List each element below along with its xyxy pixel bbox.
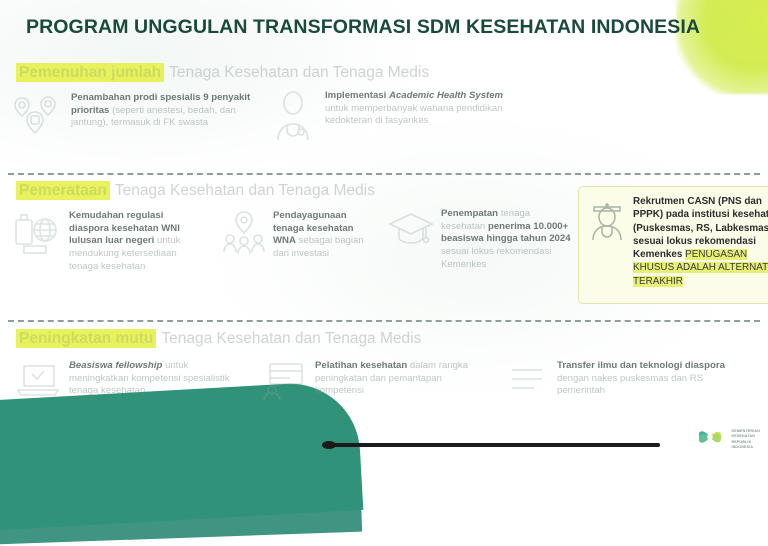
list-item-text: Kemudahan regulasi diaspora kesehatan WN… [69, 210, 200, 273]
kemenkes-pinwheel-icon [693, 420, 727, 459]
section-header-2: PemerataanTenaga Kesehatan dan Tenaga Me… [16, 182, 375, 200]
kemenkes-logo-text: KEMENTERIAN KESEHATAN REPUBLIK INDONESIA [731, 429, 760, 450]
section-3-highlight: Peningkatan mutu [16, 329, 156, 348]
list-item-text: Implementasi Academic Health System untu… [325, 90, 518, 128]
item-bold-text-a: Penempatan [441, 208, 498, 219]
list-item: Penempatan tenaga kesehatan penerima 10.… [388, 208, 573, 271]
list-item: Penambahan prodi spesialis 9 penyakit pr… [12, 92, 252, 147]
section-3-rest: Tenaga Kesehatan dan Tenaga Medis [161, 330, 421, 347]
section-header-1: Pemenuhan jumlahTenaga Kesehatan dan Ten… [16, 64, 429, 82]
section-divider-1 [8, 173, 760, 175]
section-header-3: Peningkatan mutuTenaga Kesehatan dan Ten… [16, 330, 421, 348]
graduation-cap-icon [388, 208, 434, 257]
section-1-highlight: Pemenuhan jumlah [16, 63, 164, 82]
list-item: Kemudahan regulasi diaspora kesehatan WN… [12, 210, 200, 273]
list-item: Pelatihan kesehatan dalam rangka peningk… [262, 360, 487, 405]
logo-line-4: INDONESIA [731, 445, 760, 450]
item-bold-text: Transfer ilmu dan teknologi diaspora [557, 360, 725, 371]
item-bold-italic-text: Academic Health System [389, 90, 503, 101]
section-2-highlight: Pemerataan [16, 181, 110, 200]
people-location-icon [222, 210, 266, 263]
list-item-text: Penempatan tenaga kesehatan penerima 10.… [441, 208, 573, 271]
list-item: Transfer ilmu dan teknologi diaspora den… [506, 360, 746, 403]
list-item: Implementasi Academic Health System untu… [268, 90, 518, 149]
section-1-rest: Tenaga Kesehatan dan Tenaga Medis [169, 64, 429, 81]
list-item: Pendayagunaan tenaga kesehatan WNA sebag… [222, 210, 374, 263]
page-title: PROGRAM UNGGULAN TRANSFORMASI SDM KESEHA… [26, 16, 700, 39]
item-faded-text-b: sesuai lokus rekomendasi Kemenkes [441, 246, 551, 270]
callout-box: Rekrutmen CASN (PNS dan PPPK) pada insti… [578, 186, 768, 304]
kemenkes-logo: KEMENTERIAN KESEHATAN REPUBLIK INDONESIA [693, 420, 760, 459]
list-item-text: Pelatihan kesehatan dalam rangka peningk… [315, 360, 487, 398]
section-2-rest: Tenaga Kesehatan dan Tenaga Medis [115, 182, 375, 199]
presentation-icon [262, 360, 308, 405]
item-faded-text: untuk memperbanyak wahana pendidikan ked… [325, 103, 503, 127]
item-bold-text: Pelatihan kesehatan [315, 360, 407, 371]
doctor-icon [268, 90, 318, 149]
section-divider-2 [8, 320, 760, 322]
map-pins-icon [12, 92, 64, 147]
laptop-icon [14, 360, 62, 405]
list-item-text: Penambahan prodi spesialis 9 penyakit pr… [71, 92, 252, 130]
list-item: Beasiswa fellowship untuk meningkatkan k… [14, 360, 249, 405]
item-faded-text: dengan nakes puskesmas dan RS pemerintah [557, 373, 703, 397]
transfer-icon [506, 360, 550, 403]
suitcase-globe-icon [12, 210, 62, 265]
callout-text: Rekrutmen CASN (PNS dan PPPK) pada insti… [633, 195, 768, 288]
list-item-text: Transfer ilmu dan teknologi diaspora den… [557, 360, 746, 398]
list-item-text: Beasiswa fellowship untuk meningkatkan k… [69, 360, 249, 398]
item-bold-prefix: Implementasi [325, 90, 389, 101]
nurse-icon [587, 195, 627, 246]
decorative-bar-bottom [330, 443, 660, 447]
list-item-text: Pendayagunaan tenaga kesehatan WNA sebag… [273, 210, 374, 261]
item-bold-italic-text: Beasiswa fellowship [69, 360, 162, 371]
decorative-blob-top-right-inner [698, 0, 758, 60]
